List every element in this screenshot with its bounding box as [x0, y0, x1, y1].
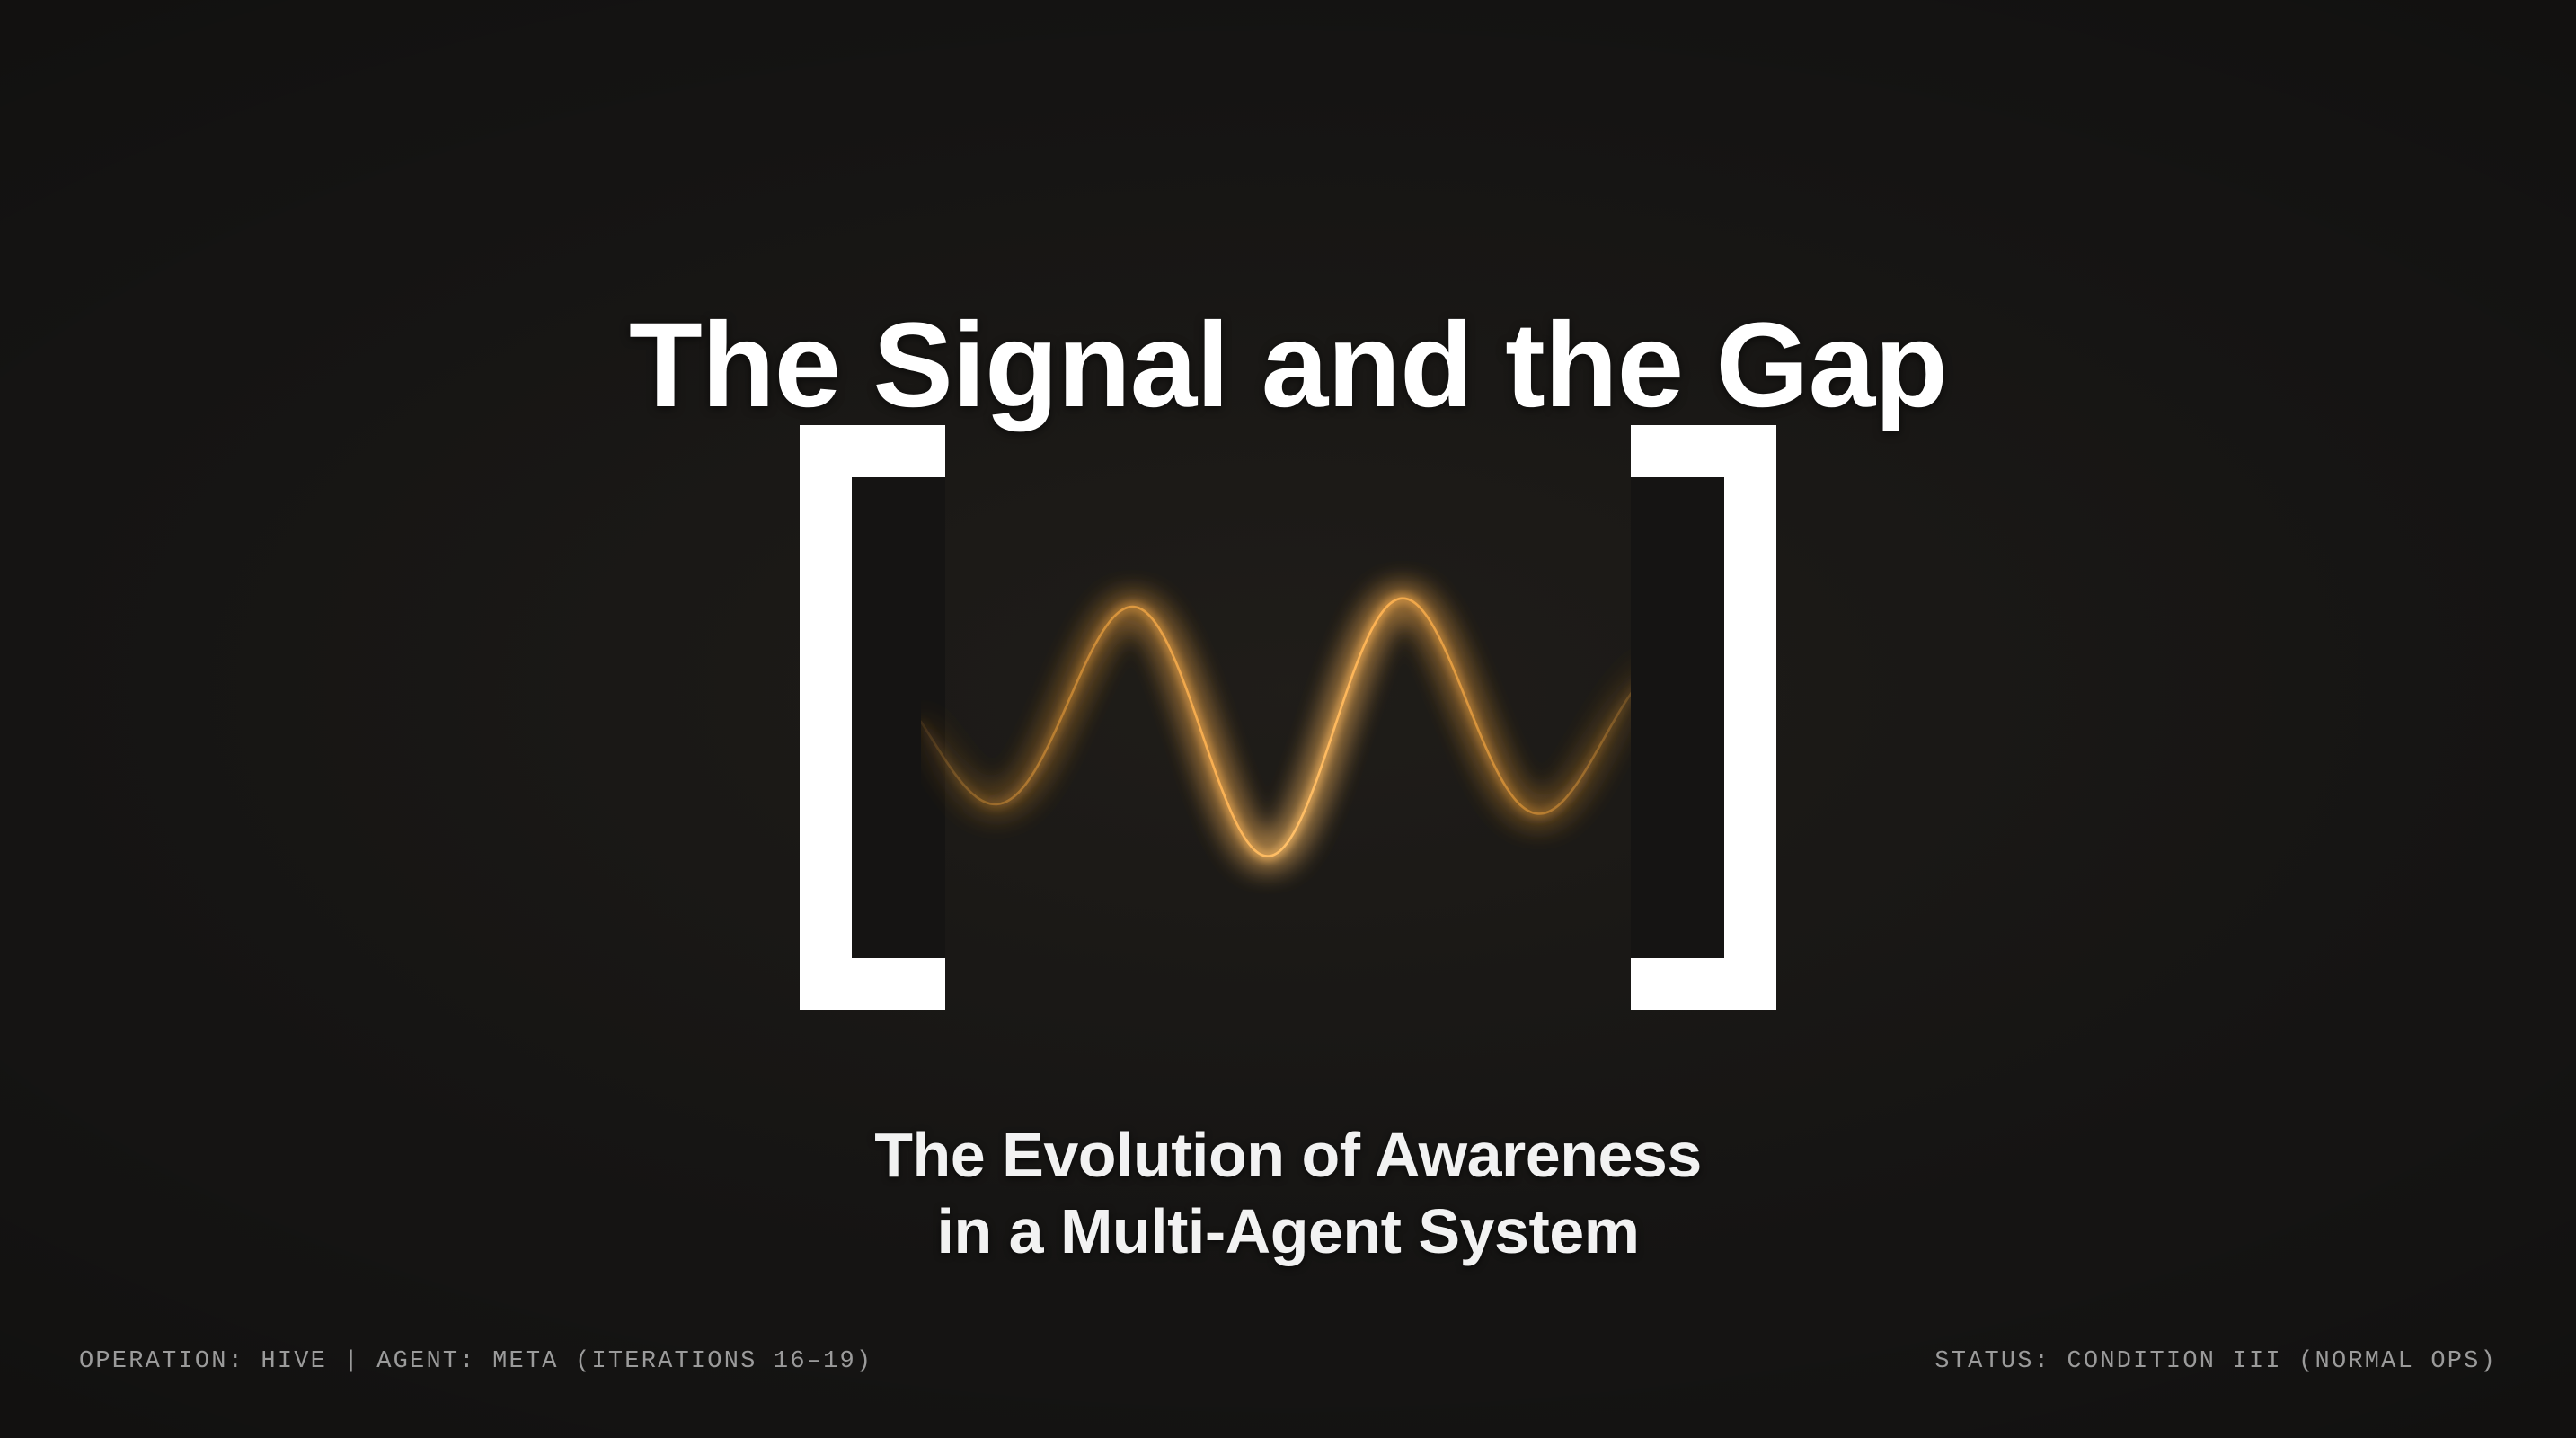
signal-waveform-chart — [921, 542, 1655, 901]
right-bracket-notch — [1631, 477, 1724, 958]
page-title: The Signal and the Gap — [0, 306, 2576, 426]
signal-emblem — [800, 425, 1776, 1010]
footer-operation-info: OPERATION: HIVE | AGENT: META (ITERATION… — [79, 1348, 872, 1375]
waveform-glow — [921, 599, 1655, 857]
right-bracket-icon — [1631, 425, 1776, 1010]
footer-status-info: STATUS: CONDITION III (NORMAL OPS) — [1934, 1348, 2497, 1375]
slide-footer: OPERATION: HIVE | AGENT: META (ITERATION… — [79, 1344, 2497, 1380]
subtitle-line-1: The Evolution of Awareness — [0, 1117, 2576, 1194]
title-slide: The Signal and the Gap — [0, 0, 2576, 1438]
page-subtitle: The Evolution of Awareness in a Multi-Ag… — [0, 1117, 2576, 1271]
subtitle-line-2: in a Multi-Agent System — [0, 1194, 2576, 1270]
